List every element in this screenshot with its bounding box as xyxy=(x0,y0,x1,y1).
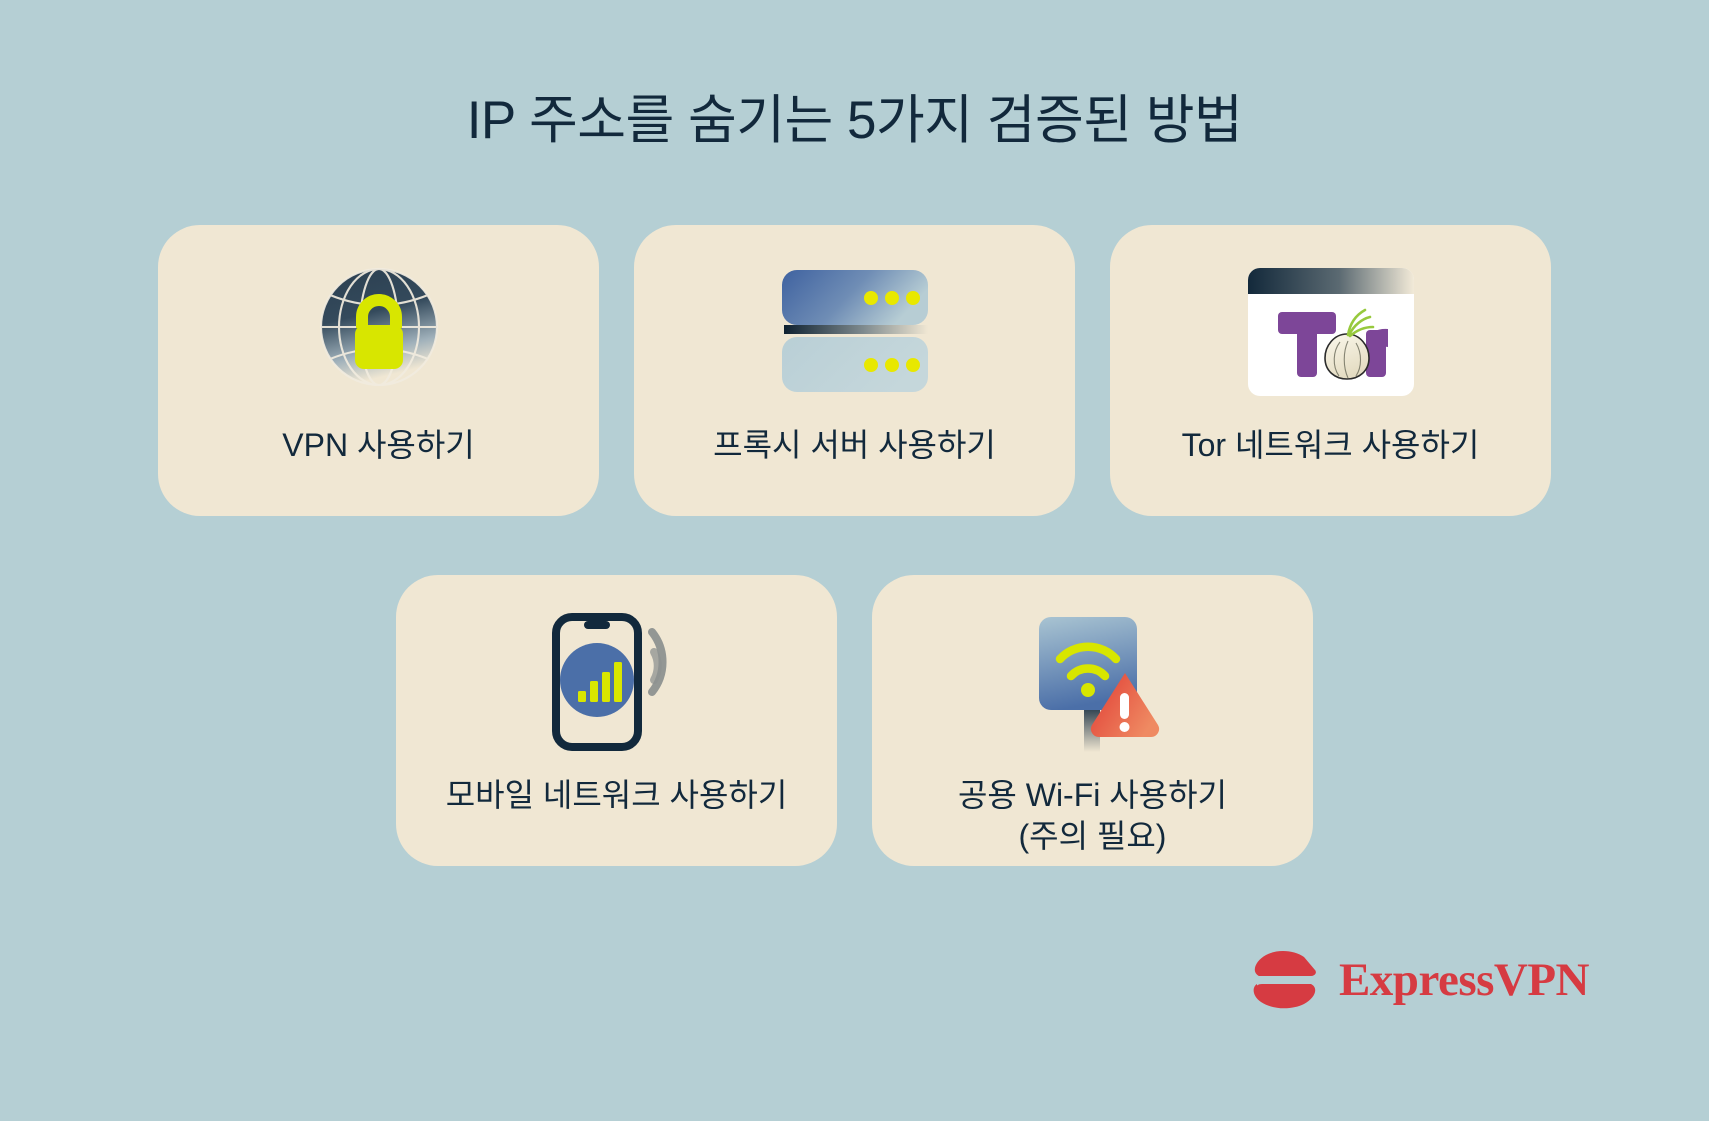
card-row-bottom: 모바일 네트워크 사용하기 xyxy=(0,575,1709,866)
brand-logo: ExpressVPN xyxy=(1249,949,1589,1011)
server-rack-icon xyxy=(770,257,940,407)
card-label: 공용 Wi-Fi 사용하기 (주의 필요) xyxy=(944,775,1241,857)
card-tor[interactable]: Tor 네트워크 사용하기 xyxy=(1110,225,1551,516)
card-label: VPN 사용하기 xyxy=(268,425,488,466)
card-mobile-network[interactable]: 모바일 네트워크 사용하기 xyxy=(396,575,837,866)
card-proxy[interactable]: 프록시 서버 사용하기 xyxy=(634,225,1075,516)
card-vpn[interactable]: VPN 사용하기 xyxy=(158,225,599,516)
globe-lock-icon xyxy=(304,257,454,407)
expressvpn-logo-mark xyxy=(1249,949,1323,1011)
card-label: 프록시 서버 사용하기 xyxy=(699,425,1010,466)
brand-name: ExpressVPN xyxy=(1339,957,1589,1004)
method-card-grid: VPN 사용하기 xyxy=(0,225,1709,866)
card-label: 모바일 네트워크 사용하기 xyxy=(432,775,802,816)
card-row-top: VPN 사용하기 xyxy=(0,225,1709,516)
wifi-sign-warning-icon xyxy=(1013,607,1173,757)
page-title: IP 주소를 숨기는 5가지 검증된 방법 xyxy=(0,78,1709,154)
smartphone-signal-icon xyxy=(524,607,709,757)
card-public-wifi[interactable]: 공용 Wi-Fi 사용하기 (주의 필요) xyxy=(872,575,1313,866)
card-label: Tor 네트워크 사용하기 xyxy=(1168,425,1494,466)
tor-browser-icon xyxy=(1242,257,1420,407)
